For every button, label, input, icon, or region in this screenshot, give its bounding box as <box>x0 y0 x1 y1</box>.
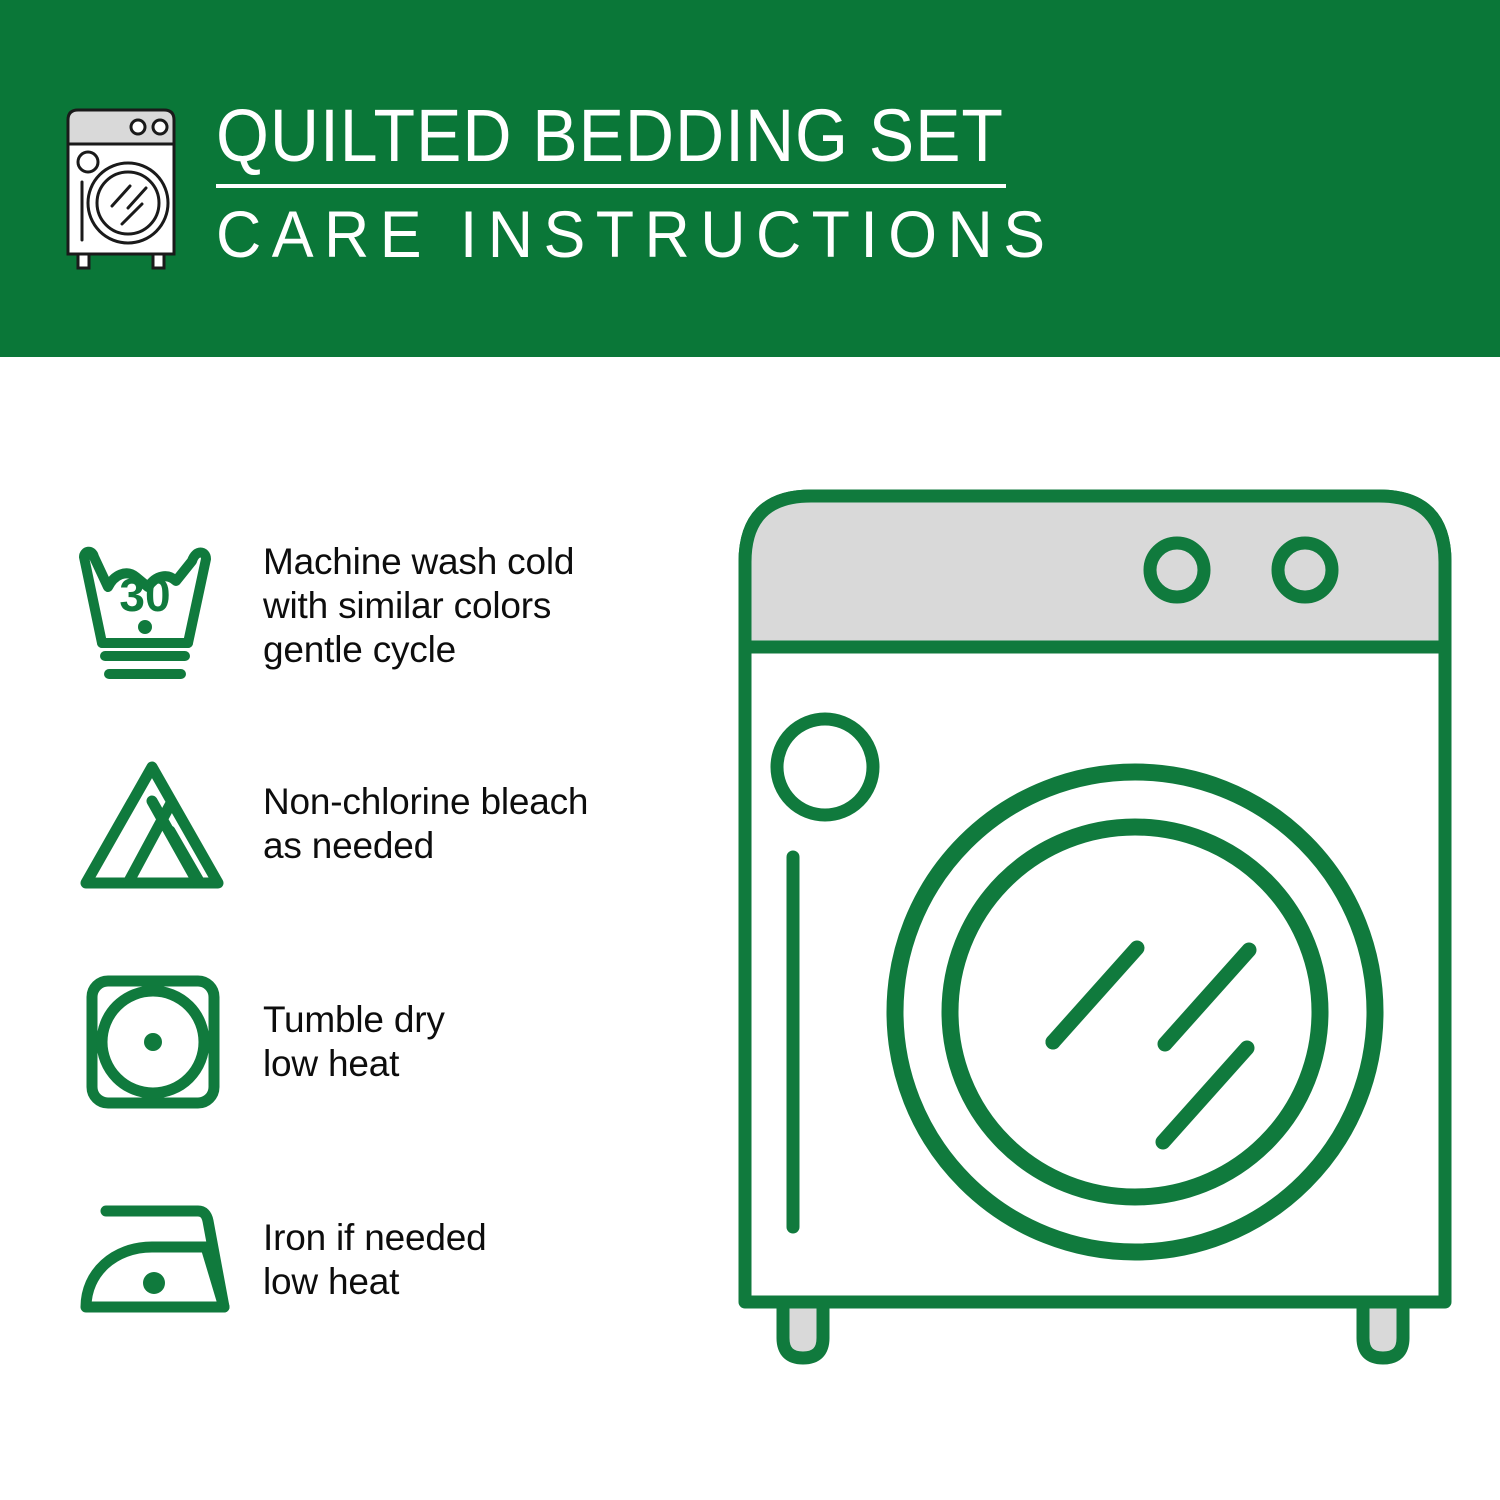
care-label: Non-chlorine bleach as needed <box>263 780 588 868</box>
wash-temperature-value: 30 <box>119 569 170 621</box>
care-label-line: Machine wash cold <box>263 540 574 584</box>
care-label-line: low heat <box>263 1260 486 1304</box>
care-instruction-list: 30 Machine wash cold with similar colors… <box>70 497 730 1369</box>
care-label: Machine wash cold with similar colors ge… <box>263 540 574 672</box>
tumble-dry-low-icon <box>70 962 245 1122</box>
non-chlorine-bleach-triangle-icon <box>70 744 245 904</box>
front-load-washing-machine-illustration <box>735 482 1455 1412</box>
care-label-line: Non-chlorine bleach <box>263 780 588 824</box>
care-row: 30 Machine wash cold with similar colors… <box>70 497 730 715</box>
title-divider <box>216 184 1006 188</box>
care-label-line: low heat <box>263 1042 445 1086</box>
main-content: 30 Machine wash cold with similar colors… <box>0 357 1500 1500</box>
page-title: QUILTED BEDDING SET <box>216 96 1029 176</box>
care-row: Non-chlorine bleach as needed <box>70 715 730 933</box>
care-row: Tumble dry low heat <box>70 933 730 1151</box>
header-title-block: QUILTED BEDDING SET CARE INSTRUCTIONS <box>216 96 1100 270</box>
header-content: QUILTED BEDDING SET CARE INSTRUCTIONS <box>60 96 1100 272</box>
iron-low-heat-icon <box>70 1180 245 1340</box>
care-label-line: with similar colors <box>263 584 574 628</box>
care-label-line: as needed <box>263 824 588 868</box>
care-label-line: gentle cycle <box>263 628 574 672</box>
wash-tub-30-gentle-icon: 30 <box>70 526 245 686</box>
care-label: Tumble dry low heat <box>263 998 445 1086</box>
care-label: Iron if needed low heat <box>263 1216 486 1304</box>
header-banner: QUILTED BEDDING SET CARE INSTRUCTIONS <box>0 0 1500 357</box>
care-row: Iron if needed low heat <box>70 1151 730 1369</box>
page-subtitle: CARE INSTRUCTIONS <box>216 198 1056 270</box>
washing-machine-icon <box>60 102 188 272</box>
care-label-line: Tumble dry <box>263 998 445 1042</box>
care-label-line: Iron if needed <box>263 1216 486 1260</box>
